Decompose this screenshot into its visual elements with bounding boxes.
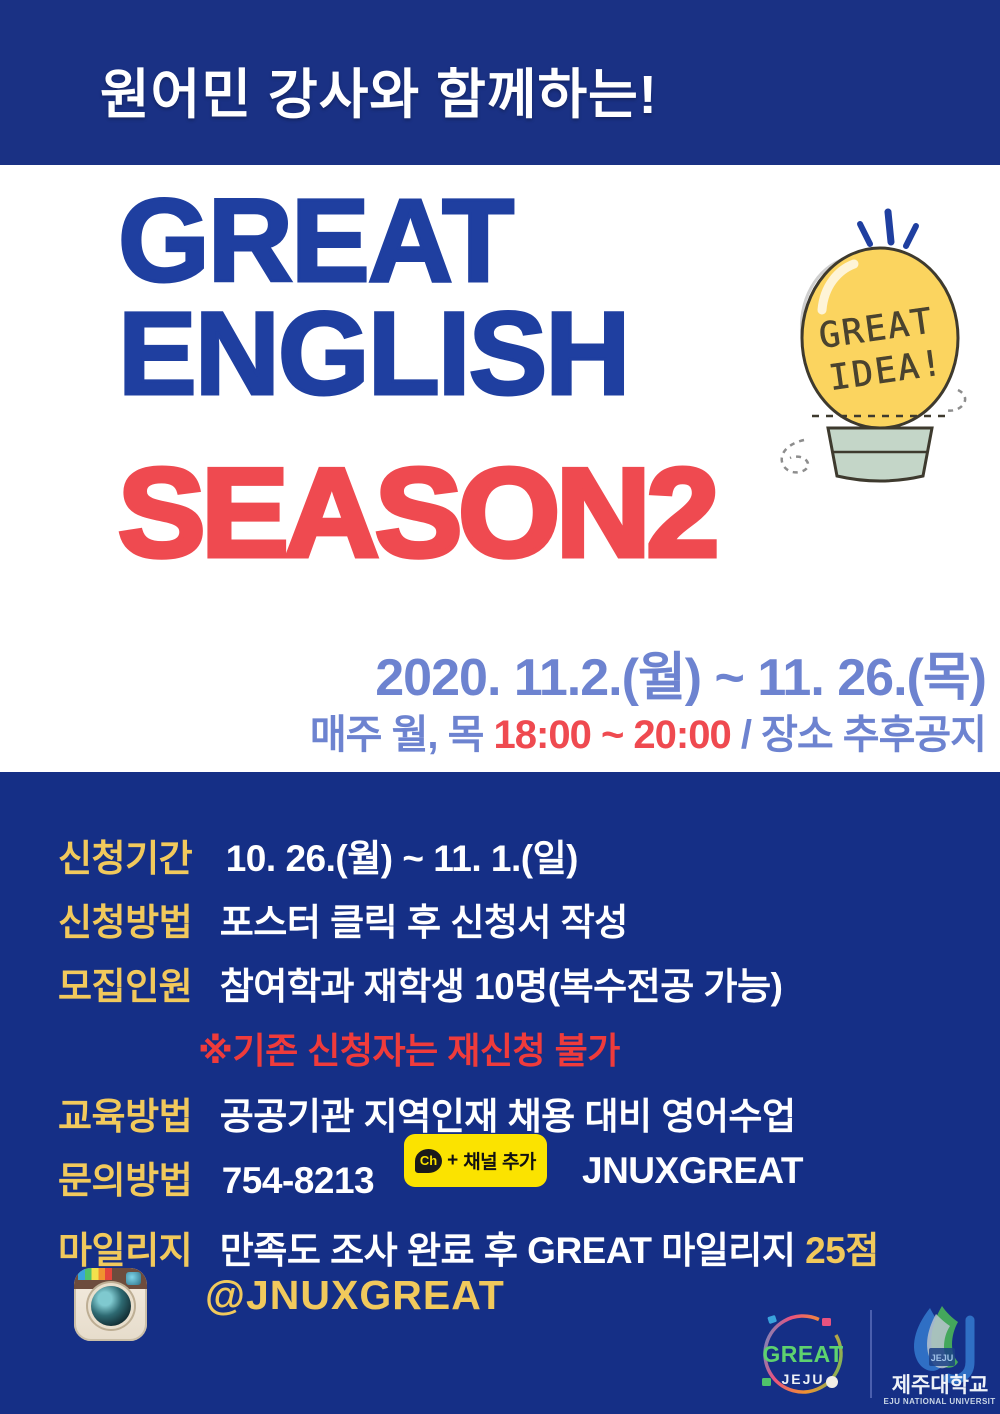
top-banner: 원어민 강사와 함께하는! — [0, 0, 1000, 165]
value-capacity: 참여학과 재학생 10명(복수전공 가능) — [220, 966, 783, 1007]
jeju-national-university-logo: JEJU 제주대학교 JEJU NATIONAL UNIVERSITY — [884, 1300, 996, 1408]
great-logo-name: GREAT — [762, 1341, 843, 1367]
info-row-apply-period: 신청기간 10. 26.(월) ~ 11. 1.(일) — [58, 828, 578, 882]
value-teaching-method: 공공기관 지역인재 채용 대비 영어수업 — [220, 1096, 796, 1137]
weekly-schedule: 매주 월, 목 18:00 ~ 20:00 / 장소 추후공지 — [310, 702, 986, 760]
class-time: 18:00 ~ 20:00 — [494, 713, 731, 757]
info-row-capacity: 모집인원 참여학과 재학생 10명(복수전공 가능) — [58, 956, 782, 1010]
hero-section: GREAT ENGLISH SEASON2 — [0, 165, 1000, 772]
label-mileage: 마일리지 — [58, 1230, 192, 1271]
instagram-viewfinder — [126, 1272, 141, 1285]
venue-note: / 장소 추후공지 — [731, 713, 986, 757]
lightbulb-icon: GREAT IDEA! — [760, 190, 990, 490]
instagram-icon[interactable] — [74, 1268, 147, 1341]
info-row-mileage: 마일리지 만족도 조사 완료 후 GREAT 마일리지 25점 — [58, 1220, 879, 1274]
poster-root: 원어민 강사와 함께하는! GREAT ENGLISH SEASON2 — [0, 0, 1000, 1414]
info-row-contact: 문의방법 754-8213 — [58, 1150, 374, 1204]
label-contact: 문의방법 — [58, 1160, 192, 1201]
plus-icon: + — [447, 1151, 458, 1170]
value-apply-period: 10. 26.(월) ~ 11. 1.(일) — [226, 838, 578, 879]
jnu-name-ko: 제주대학교 — [892, 1374, 989, 1397]
value-contact-phone: 754-8213 — [222, 1160, 374, 1201]
kakao-channel-id: JNUXGREAT — [582, 1150, 803, 1192]
logo-divider — [870, 1310, 872, 1398]
top-headline: 원어민 강사와 함께하는! — [100, 50, 658, 129]
title-line-season: SEASON2 — [118, 450, 715, 576]
info-row-teaching-method: 교육방법 공공기관 지역인재 채용 대비 영어수업 — [58, 1086, 796, 1140]
mileage-points: 25점 — [805, 1230, 879, 1271]
label-apply-period: 신청기간 — [58, 838, 192, 879]
jnu-name-en: JEJU NATIONAL UNIVERSITY — [884, 1397, 996, 1406]
title-line-english: ENGLISH — [118, 298, 692, 411]
info-row-apply-method: 신청방법 포스터 클릭 후 신청서 작성 — [58, 892, 628, 946]
great-logo-sub: JEJU — [781, 1371, 824, 1387]
title-line-great: GREAT — [118, 185, 692, 298]
label-teaching-method: 교육방법 — [58, 1096, 192, 1137]
instagram-rainbow-stripe — [78, 1268, 112, 1280]
jnu-emblem-text: JEJU — [931, 1353, 954, 1363]
great-jeju-logo: GREAT JEJU — [748, 1306, 858, 1406]
date-range: 2020. 11.2.(월) ~ 11. 26.(목) — [375, 635, 986, 710]
main-title-block: GREAT ENGLISH SEASON2 — [118, 185, 692, 576]
label-capacity: 모집인원 — [58, 966, 192, 1007]
weekly-prefix: 매주 월, 목 — [310, 713, 494, 757]
kakao-button-label: 채널 추가 — [463, 1147, 536, 1174]
instagram-lens — [91, 1286, 131, 1326]
label-apply-method: 신청방법 — [58, 902, 192, 943]
warning-note: ※기존 신청자는 재신청 불가 — [198, 1022, 620, 1074]
kakao-channel-icon: Ch — [415, 1149, 442, 1173]
value-apply-method: 포스터 클릭 후 신청서 작성 — [220, 902, 628, 943]
value-mileage: 만족도 조사 완료 후 GREAT 마일리지 — [220, 1230, 805, 1271]
kakao-add-channel-button[interactable]: Ch + 채널 추가 — [404, 1134, 547, 1187]
instagram-handle[interactable]: @JNUXGREAT — [205, 1272, 505, 1319]
